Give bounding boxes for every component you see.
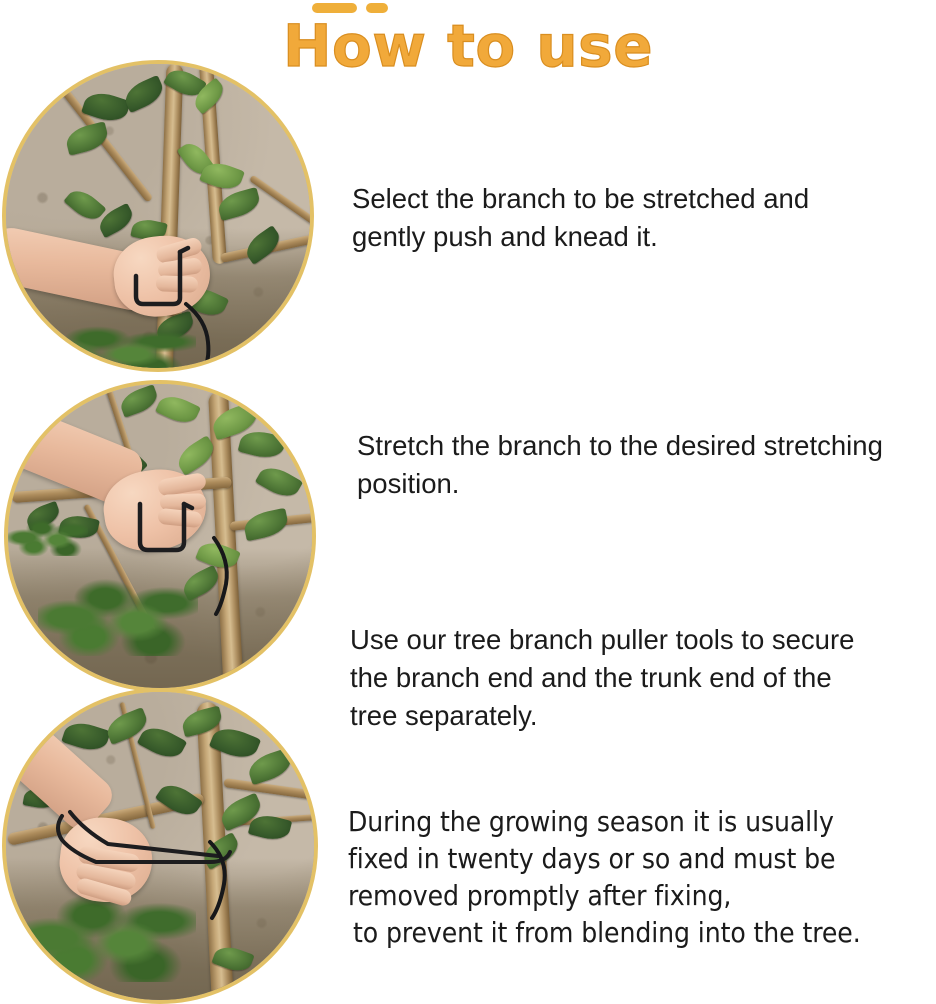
step-1-line-1: Select the branch to be stretched and [352, 180, 928, 218]
step-4-line-3: removed promptly after fixing, [348, 877, 932, 914]
tool-wire-lower-icon [182, 302, 242, 372]
step-4-line-4: to prevent it from blending into the tre… [348, 914, 932, 951]
ground-weeds [8, 510, 88, 556]
step-2-line-2: position. [357, 465, 935, 503]
ground-weeds [38, 560, 198, 656]
photo-scene-1 [6, 64, 310, 368]
step-image-2 [4, 380, 316, 692]
step-4-text: During the growing season it is usually … [348, 803, 932, 951]
step-3-line-1: Use our tree branch puller tools to secu… [350, 621, 930, 659]
tool-wire-lower-icon [208, 536, 244, 616]
ground-weeds [26, 314, 196, 372]
step-3-line-3: tree separately. [350, 697, 930, 735]
photo-scene-3 [6, 692, 314, 1000]
step-image-3 [2, 688, 318, 1004]
photo-scene-2 [8, 384, 312, 688]
step-1-line-2: gently push and knead it. [352, 218, 928, 256]
step-4-line-2: fixed in twenty days or so and must be [348, 840, 932, 877]
step-3-line-2: the branch end and the trunk end of the [350, 659, 930, 697]
step-3-text: Use our tree branch puller tools to secu… [350, 621, 930, 735]
step-4-line-1: During the growing season it is usually [348, 803, 932, 840]
branch-puller-tool-icon [134, 502, 204, 558]
tool-wire-lower-icon [202, 840, 242, 920]
step-2-line-1: Stretch the branch to the desired stretc… [357, 427, 935, 465]
step-1-text: Select the branch to be stretched and ge… [352, 180, 928, 256]
step-image-1 [2, 60, 314, 372]
step-2-text: Stretch the branch to the desired stretc… [357, 427, 935, 503]
